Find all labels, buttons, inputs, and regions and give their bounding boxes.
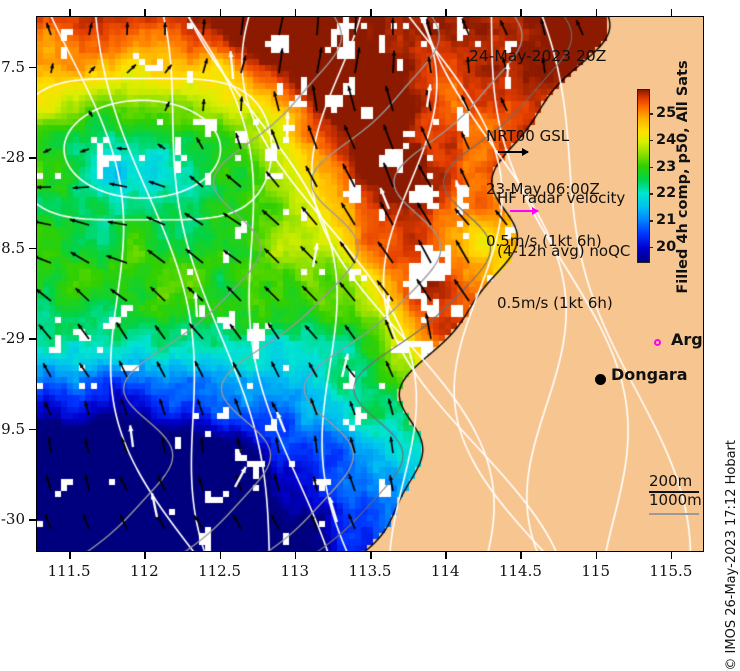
x-axis-tick [370,552,372,559]
x-axis-tick [671,552,673,559]
colorbar-tick [649,113,653,115]
colorbar-tick [649,140,653,142]
bathymetry-line-1000 [649,513,699,515]
colorbar-title: Filled 4h comp, p50, All Sats [675,60,691,293]
x-axis-tick-top [295,9,297,16]
imos-credit: © IMOS 26-May-2023 17:12 Hobart [724,440,739,671]
sst-colorbar [637,89,650,263]
x-axis-label: 115 [581,562,610,580]
dongara-marker-label: Dongara [611,365,688,384]
x-axis-label: 114 [431,562,460,580]
x-axis-tick [596,552,598,559]
x-axis-tick-top [596,9,598,16]
hf-legend-line1: HF radar velocity [497,190,630,208]
x-axis-tick-top [445,9,447,16]
y-axis-tick [29,429,36,431]
hf-radar-legend-block: HF radar velocity (4-12h avg) noQC 0.5m/… [497,155,630,348]
hf-legend-line2: (4-12h avg) noQC [497,243,630,261]
y-axis-label: -28 [1,148,25,166]
y-axis-tick [29,157,36,159]
y-axis-label: -30 [1,510,25,528]
x-axis-tick [445,552,447,559]
bathymetry-label-200: 200m [649,472,702,491]
x-axis-tick-top [220,9,222,16]
y-axis-tick [29,67,36,69]
hf-radar-reference-arrow [510,210,538,212]
colorbar-tick-label: 23 [656,159,676,175]
y-axis-label: -27.5 [0,58,25,76]
y-axis-label: -28.5 [0,239,25,257]
x-axis-label: 112.5 [198,562,241,580]
colorbar-tick [649,167,653,169]
bathymetry-line-200 [649,491,699,493]
map-plot-area[interactable]: 24-May-2023 20Z NRT00 GSL 23-May 06:00Z … [36,16,704,552]
colorbar-tick-label: 25 [656,105,676,121]
x-axis-label: 115.5 [649,562,692,580]
x-axis-tick [520,552,522,559]
colorbar-tick [649,247,653,249]
x-axis-label: 111.5 [48,562,91,580]
x-axis-tick-top [370,9,372,16]
hf-legend-line3: 0.5m/s (1kt 6h) [497,295,630,313]
colorbar-tick [649,220,653,222]
x-axis-label: 113 [280,562,309,580]
colorbar-tick-label: 24 [656,132,676,148]
y-axis-tick [29,519,36,521]
y-axis-tick [29,248,36,250]
x-axis-label: 112 [130,562,159,580]
gsl-reference-arrow [498,151,528,153]
x-axis-tick [144,552,146,559]
x-axis-label: 113.5 [349,562,392,580]
x-axis-tick-top [144,9,146,16]
figure-root: 24-May-2023 20Z NRT00 GSL 23-May 06:00Z … [0,0,740,592]
colorbar-tick [649,193,653,195]
x-axis-label: 114.5 [499,562,542,580]
x-axis-tick [69,552,71,559]
x-axis-tick [220,552,222,559]
x-axis-tick [295,552,297,559]
x-axis-tick-top [520,9,522,16]
colorbar-tick-label: 20 [656,239,676,255]
x-axis-tick-top [69,9,71,16]
colorbar-tick-label: 21 [656,212,676,228]
argo-marker-icon [654,339,661,346]
y-axis-label: -29 [1,329,25,347]
dongara-marker-icon [595,374,606,385]
colorbar-tick-label: 22 [656,185,676,201]
gsl-legend-line1: NRT00 GSL [486,128,602,146]
y-axis-label: -29.5 [0,420,25,438]
map-date-title: 24-May-2023 20Z [469,47,606,65]
y-axis-tick [29,338,36,340]
argo-marker-label: Argo [671,330,704,349]
bathymetry-label-1000: 1000m [649,491,702,510]
x-axis-tick-top [671,9,673,16]
